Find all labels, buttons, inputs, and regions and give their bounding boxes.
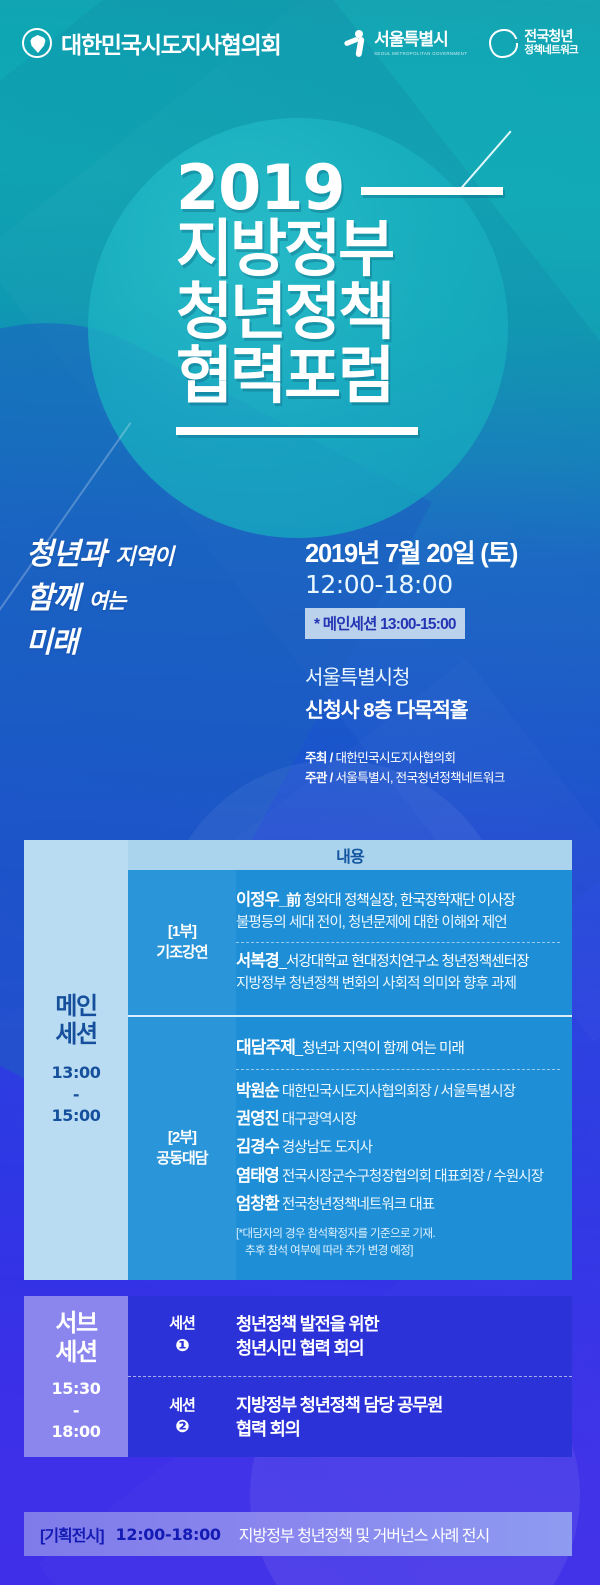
event-date: 2019년 7월 20일 (토) xyxy=(305,540,585,568)
dialogue-topic-text: 청년과 지역이 함께 여는 미래 xyxy=(302,1041,464,1057)
sub-session-time-cell: 서브 세션 15:30 - 18:00 xyxy=(24,1296,128,1458)
association-name: 대한민국시도지사협의회 xyxy=(61,26,281,60)
poster-title: 2019 지방정부 청년정책 협력포럼 xyxy=(0,158,600,435)
sub-session-1-title: 청년정책 발전을 위한 청년시민 협력 회의 xyxy=(236,1312,379,1360)
part-2-label-line2: 공동대담 xyxy=(156,1148,207,1170)
sub-session-1-title-line1: 청년정책 발전을 위한 xyxy=(236,1312,379,1336)
sub-session-number-1: 세션 ❶ xyxy=(128,1314,236,1357)
seoul-name-en: SEOUL METROPOLITAN GOVERNMENT xyxy=(374,51,467,56)
poster-root: 대한민국시도지사협의회 서울특별시 SEOUL METROPOLITAN GOV… xyxy=(0,0,600,1585)
slogan-line3: 미래 xyxy=(26,623,241,662)
panelist-name: 박원순 xyxy=(236,1082,279,1100)
slogan-line1-sub: 지역이 xyxy=(115,544,173,570)
seoul-logo: 서울특별시 SEOUL METROPOLITAN GOVERNMENT xyxy=(344,30,467,56)
panelist-title: 전국청년정책네트워크 대표 xyxy=(282,1197,434,1213)
panelist-name: 염태영 xyxy=(236,1167,279,1185)
keynote-topic: 불평등의 세대 전이, 청년문제에 대한 이해와 제언 xyxy=(236,913,560,934)
content-column-header: 내용 xyxy=(128,840,572,870)
part-2-row: [2부] 공동대담 대담주제_청년과 지역이 함께 여는 미래 박원순대한민국시… xyxy=(128,1015,572,1280)
main-session-row: 메인 세션 13:00 - 15:00 내용 [1부] 기조강연 xyxy=(24,840,572,1280)
panelist-row: 김경수경상남도 도지사 xyxy=(236,1133,560,1161)
panelist-title: 대한민국시도지사협의회장 / 서울특별시장 xyxy=(282,1084,515,1100)
partner-logos: 서울특별시 SEOUL METROPOLITAN GOVERNMENT 전국청년… xyxy=(344,29,578,58)
event-info: 2019년 7월 20일 (토) 12:00-18:00 * 메인세션 13:0… xyxy=(305,540,585,789)
slogan-line2-sub: 여는 xyxy=(89,588,126,613)
poster-header: 대한민국시도지사협의회 서울특별시 SEOUL METROPOLITAN GOV… xyxy=(0,0,600,86)
exhibition-hours: 12:00-18:00 xyxy=(116,1525,221,1544)
panelist-name: 권영진 xyxy=(236,1110,279,1128)
panelist-row: 박원순대한민국시도지사협의회장 / 서울특별시장 xyxy=(236,1077,560,1105)
schedule-table: 메인 세션 13:00 - 15:00 내용 [1부] 기조강연 xyxy=(24,840,572,1457)
main-session-label-1: 메인 xyxy=(55,993,96,1022)
sub-session-item: 세션 ❷ 지방정부 청년정책 담당 공무원 협력 회의 xyxy=(128,1376,572,1457)
sub-session-label-1: 서브 xyxy=(55,1310,96,1339)
blob-outline-icon xyxy=(489,29,518,58)
keynote-affiliation: 서강대학교 현대정치연구소 청년정책센터장 xyxy=(286,954,529,970)
panelist-row: 권영진대구광역시장 xyxy=(236,1105,560,1133)
sub-session-time-start: 15:30 xyxy=(52,1378,101,1400)
title-underline-rule xyxy=(176,427,418,435)
seoul-name-ko: 서울특별시 xyxy=(374,31,448,48)
title-line-3: 협력포럼 xyxy=(176,345,600,409)
sub-session-time-dash: - xyxy=(52,1400,101,1422)
circle-emblem-icon xyxy=(22,28,52,58)
main-session-time-start: 13:00 xyxy=(52,1062,101,1084)
main-session-time-end: 15:00 xyxy=(52,1105,101,1127)
slogan-line1-main: 청년과 xyxy=(26,537,115,572)
sub-session-item: 세션 ❶ 청년정책 발전을 위한 청년시민 협력 회의 xyxy=(128,1296,572,1376)
main-session-body: 내용 [1부] 기조강연 이정우_前 청와대 정책실장, 한국장학재단 이사장 … xyxy=(128,840,572,1280)
slogan-line2-main: 함께 xyxy=(26,581,89,616)
venue-line-2: 신청사 8층 다목적홀 xyxy=(305,693,585,723)
exhibition-bar: [기획전시] 12:00-18:00 지방정부 청년정책 및 거버넌스 사례 전… xyxy=(24,1512,572,1556)
host-value: 대한민국시도지사협의회 xyxy=(335,751,455,765)
panelist-name: 엄창환 xyxy=(236,1195,279,1213)
content-header-label: 내용 xyxy=(336,843,364,867)
title-line-2: 청년정책 xyxy=(176,281,600,345)
sub-session-row: 서브 세션 15:30 - 18:00 세션 ❶ 청년정책 발전을 위한 xyxy=(24,1296,572,1458)
sub-session-number-2: 세션 ❷ xyxy=(128,1396,236,1439)
slogan-calligraphy: 청년과 지역이 함께 여는 미래 xyxy=(26,535,241,662)
sub-session-2-title-line1: 지방정부 청년정책 담당 공무원 xyxy=(236,1393,442,1417)
part-2-items: 대담주제_청년과 지역이 함께 여는 미래 박원순대한민국시도지사협의회장 / … xyxy=(236,1017,572,1280)
panelist-row: 염태영전국시장군수구청장협의회 대표회장 / 수원시장 xyxy=(236,1162,560,1190)
panelist-list: 박원순대한민국시도지사협의회장 / 서울특별시장 권영진대구광역시장 김경수경상… xyxy=(236,1069,560,1268)
sub-session-label-2: 세션 xyxy=(55,1339,96,1368)
keynote-item: 이정우_前 청와대 정책실장, 한국장학재단 이사장 불평등의 세대 전이, 청… xyxy=(236,882,560,942)
panelist-note: [*대담자의 경우 참석확정자를 기준으로 기재. 추후 참석 여부에 따라 추… xyxy=(236,1226,560,1259)
keynote-affiliation: 청와대 정책실장, 한국장학재단 이사장 xyxy=(300,893,515,909)
organizer-separator: / xyxy=(330,771,333,785)
part-1-row: [1부] 기조강연 이정우_前 청와대 정책실장, 한국장학재단 이사장 불평등… xyxy=(128,870,572,1015)
panelist-note-line1: [*대담자의 경우 참석확정자를 기준으로 기재. xyxy=(236,1228,435,1240)
keynote-topic: 지방정부 청년정책 변화의 사회적 의미와 향후 과제 xyxy=(236,974,560,995)
part-1-items: 이정우_前 청와대 정책실장, 한국장학재단 이사장 불평등의 세대 전이, 청… xyxy=(236,870,572,1015)
panelist-note-line2: 추후 참석 여부에 따라 추가 변경 예정] xyxy=(236,1243,560,1260)
event-time: 12:00-18:00 xyxy=(305,570,585,600)
organizer-value: 서울특별시, 전국청년정책네트워크 xyxy=(335,771,504,785)
organizer-label: 주관 xyxy=(305,771,327,785)
part-1-label-line2: 기조강연 xyxy=(156,942,207,964)
panelist-title: 전국시장군수구청장협의회 대표회장 / 수원시장 xyxy=(282,1169,543,1185)
main-session-label-2: 세션 xyxy=(55,1021,96,1050)
sub-session-2-label: 세션 xyxy=(169,1397,195,1414)
organizer-row: 주관 / 서울특별시, 전국청년정책네트워크 xyxy=(305,768,585,789)
keynote-speaker-name: 서복경 xyxy=(236,952,279,970)
seoul-haechi-icon xyxy=(344,30,370,56)
main-session-badge: * 메인세션 13:00-15:00 xyxy=(305,608,465,639)
sub-session-time-end: 18:00 xyxy=(52,1421,101,1443)
venue-line-1: 서울특별시청 xyxy=(305,661,585,690)
part-1-label: [1부] 기조강연 xyxy=(128,870,236,1015)
sub-session-1-title-line2: 청년시민 협력 회의 xyxy=(236,1336,379,1360)
part-1-label-line1: [1부] xyxy=(168,921,196,943)
title-year: 2019 xyxy=(176,158,345,218)
sub-session-2-title: 지방정부 청년정책 담당 공무원 협력 회의 xyxy=(236,1393,442,1441)
title-line-1: 지방정부 xyxy=(176,218,600,282)
part-2-label: [2부] 공동대담 xyxy=(128,1017,236,1280)
circled-number-one-icon: ❶ xyxy=(128,1335,236,1358)
keynote-speaker-name: 이정우 xyxy=(236,891,279,909)
association-logo: 대한민국시도지사협의회 xyxy=(22,26,281,60)
panelist-title: 대구광역시장 xyxy=(282,1112,357,1128)
host-label: 주최 xyxy=(305,751,327,765)
exhibition-description: 지방정부 청년정책 및 거버넌스 사례 전시 xyxy=(239,1522,489,1546)
title-dash-rule xyxy=(361,187,503,195)
sub-session-2-title-line2: 협력 회의 xyxy=(236,1417,442,1441)
sub-session-body: 세션 ❶ 청년정책 발전을 위한 청년시민 협력 회의 세션 ❷ 지방정부 청년… xyxy=(128,1296,572,1458)
part-2-label-line1: [2부] xyxy=(168,1127,196,1149)
keynote-item: 서복경_서강대학교 현대정치연구소 청년정책센터장 지방정부 청년정책 변화의 … xyxy=(236,942,560,1003)
sub-session-1-label: 세션 xyxy=(169,1315,195,1332)
host-info: 주최 / 대한민국시도지사협의회 주관 / 서울특별시, 전국청년정책네트워크 xyxy=(305,748,585,789)
panelist-row: 엄창환전국청년정책네트워크 대표 xyxy=(236,1190,560,1218)
keynote-affiliation-prefix: _前 xyxy=(279,892,301,909)
exhibition-tag: [기획전시] xyxy=(40,1522,104,1546)
main-session-time-cell: 메인 세션 13:00 - 15:00 xyxy=(24,840,128,1280)
keynote-affiliation-prefix: _ xyxy=(279,954,286,970)
dialogue-topic-label: 대담주제 xyxy=(236,1038,295,1057)
circled-number-two-icon: ❷ xyxy=(128,1416,236,1439)
panelist-name: 김경수 xyxy=(236,1138,279,1156)
ycn-name-line1: 전국청년 xyxy=(524,29,578,45)
host-row: 주최 / 대한민국시도지사협의회 xyxy=(305,748,585,769)
ycn-name-line2: 정책네트워크 xyxy=(524,45,578,57)
host-separator: / xyxy=(330,751,333,765)
main-session-time-dash: - xyxy=(52,1084,101,1106)
dialogue-topic-item: 대담주제_청년과 지역이 함께 여는 미래 xyxy=(236,1029,560,1069)
ycn-logo: 전국청년 정책네트워크 xyxy=(489,29,578,58)
panelist-title: 경상남도 도지사 xyxy=(282,1140,372,1156)
